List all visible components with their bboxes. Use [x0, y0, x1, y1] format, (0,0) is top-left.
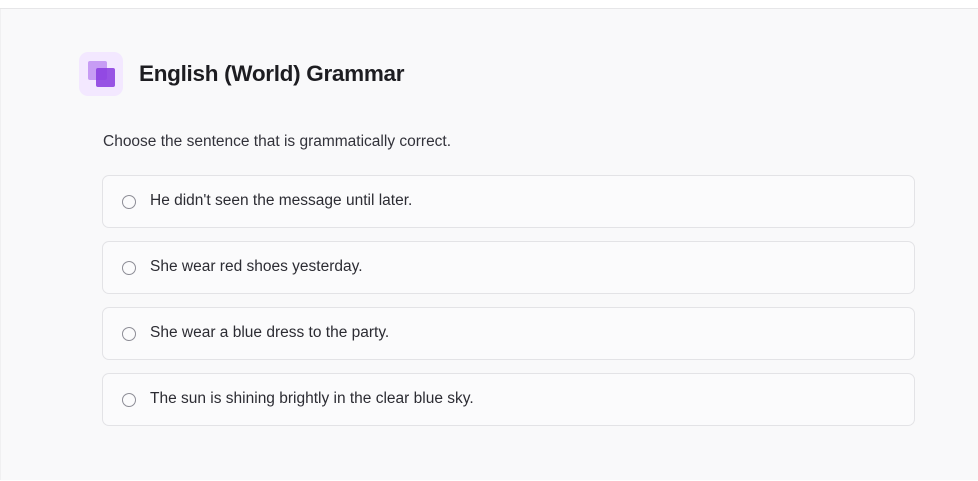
option-row[interactable]: The sun is shining brightly in the clear… — [102, 373, 915, 426]
option-row[interactable]: He didn't seen the message until later. — [102, 175, 915, 228]
page-header: English (World) Grammar — [1, 9, 978, 96]
option-label: She wear red shoes yesterday. — [150, 258, 363, 277]
app-logo-icon — [79, 52, 123, 96]
option-label: He didn't seen the message until later. — [150, 192, 412, 211]
page-title: English (World) Grammar — [139, 63, 404, 86]
logo-square-front-icon — [96, 68, 115, 87]
options-list: He didn't seen the message until later. … — [102, 175, 915, 426]
browser-chrome-strip — [0, 0, 978, 9]
radio-button-icon[interactable] — [122, 393, 136, 407]
option-label: The sun is shining brightly in the clear… — [150, 390, 474, 409]
page-surface: English (World) Grammar Choose the sente… — [0, 9, 978, 480]
option-row[interactable]: She wear a blue dress to the party. — [102, 307, 915, 360]
radio-button-icon[interactable] — [122, 195, 136, 209]
question-text: Choose the sentence that is grammaticall… — [103, 132, 978, 152]
option-label: She wear a blue dress to the party. — [150, 324, 389, 343]
option-row[interactable]: She wear red shoes yesterday. — [102, 241, 915, 294]
radio-button-icon[interactable] — [122, 261, 136, 275]
radio-button-icon[interactable] — [122, 327, 136, 341]
